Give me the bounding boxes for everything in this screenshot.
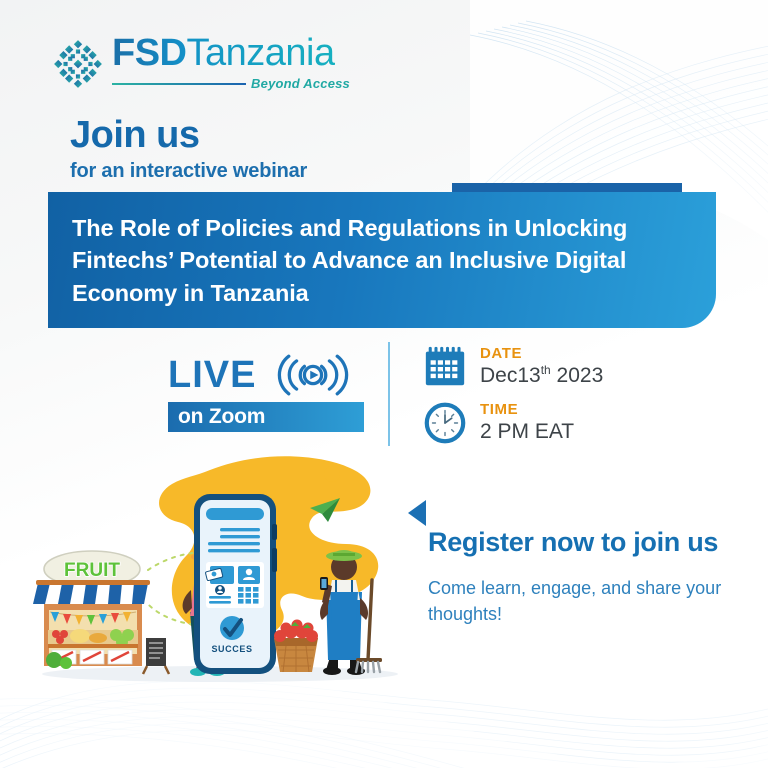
- logo-tagline: Beyond Access: [251, 76, 350, 91]
- time-label: TIME: [480, 402, 574, 419]
- cta-body: Come learn, engage, and share your thoug…: [428, 575, 728, 627]
- logo-tagline-row: Beyond Access: [112, 76, 350, 91]
- tagline-rule: [112, 83, 246, 85]
- phone-status-text: SUCCES: [211, 644, 252, 654]
- date-value-main: Dec13: [480, 364, 541, 387]
- broadcast-live-icon: [270, 352, 356, 398]
- time-value: 2 PM EAT: [480, 419, 574, 444]
- webinar-title-banner: The Role of Policies and Regulations in …: [48, 192, 716, 328]
- event-details: DATE Dec13th 2023: [422, 344, 603, 456]
- phone-header-bar: [206, 508, 264, 520]
- zoom-platform-label: on Zoom: [178, 405, 265, 429]
- fintech-market-illustration: FRUIT: [20, 452, 420, 702]
- stall-sign-text: FRUIT: [64, 560, 120, 581]
- date-value-year: 2023: [551, 364, 604, 387]
- success-check-badge: [220, 616, 244, 640]
- event-time-row: TIME 2 PM EAT: [422, 400, 603, 446]
- live-badge: LIVE: [168, 352, 356, 398]
- cta-heading: Register now to join us: [428, 527, 718, 558]
- section-divider: [388, 342, 390, 446]
- fsd-mandala-icon: [52, 38, 104, 90]
- user-profile-icon: [238, 566, 260, 584]
- page-title: Join us: [70, 116, 200, 154]
- page-subtitle: for an interactive webinar: [70, 160, 307, 183]
- webinar-poster: FSDTanzania Beyond Access Join us for an…: [0, 0, 768, 768]
- webinar-title: The Role of Policies and Regulations in …: [72, 212, 702, 309]
- smartphone-mockup: SUCCES: [194, 494, 277, 674]
- calendar-icon: [422, 344, 468, 390]
- date-label: DATE: [480, 346, 603, 363]
- live-label: LIVE: [168, 356, 256, 394]
- date-value-ordinal: th: [541, 363, 551, 377]
- brand-logo: FSDTanzania Beyond Access: [52, 34, 350, 91]
- date-value: Dec13th 2023: [480, 363, 603, 388]
- keypad-icon: [238, 587, 259, 604]
- tomato-basket: [274, 620, 318, 673]
- logo-name-light: Tanzania: [187, 34, 335, 72]
- clock-icon: [422, 400, 468, 446]
- logo-name-bold: FSD: [112, 34, 187, 72]
- event-date-row: DATE Dec13th 2023: [422, 344, 603, 390]
- zoom-platform-badge: on Zoom: [168, 402, 364, 432]
